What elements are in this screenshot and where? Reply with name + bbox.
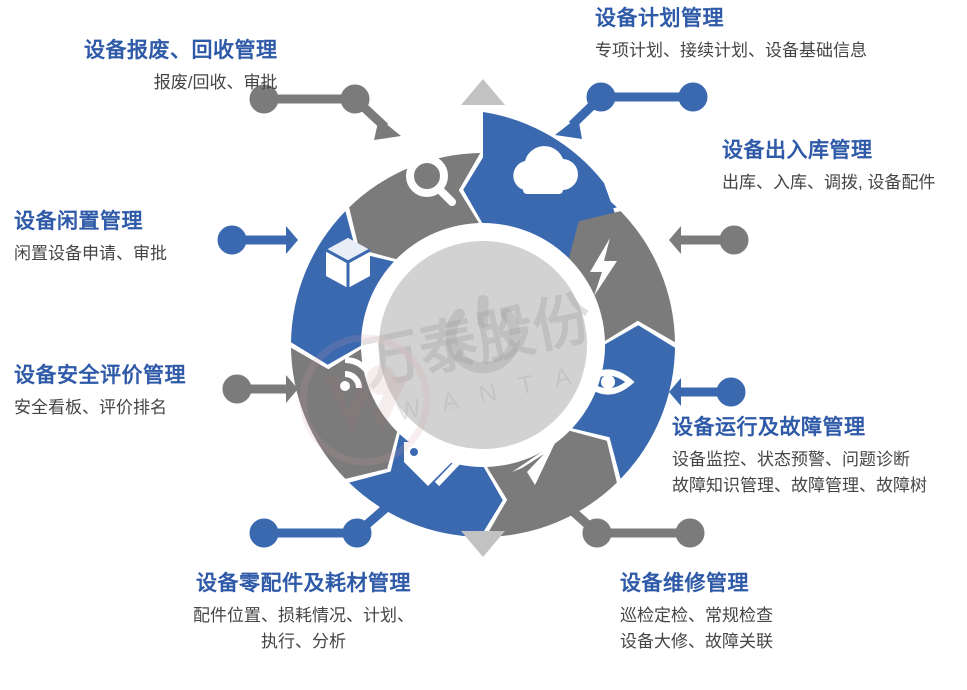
label-repair-sub-2: 设备大修、故障关联 (620, 629, 773, 655)
infographic-diagram: 万泰股份 W A N T A ® 设备报废、回收管理 报废/回收、审批 设备计划… (0, 0, 967, 690)
label-scrap-title: 设备报废、回收管理 (84, 40, 278, 61)
label-run[interactable]: 设备运行及故障管理 设备监控、状态预警、问题诊断 故障知识管理、故障管理、故障树 (672, 417, 927, 500)
segmented-wheel: 万泰股份 W A N T A ® (0, 0, 967, 690)
label-idle[interactable]: 设备闲置管理 闲置设备申请、审批 (14, 211, 167, 267)
label-plan[interactable]: 设备计划管理 专项计划、接续计划、设备基础信息 (595, 8, 867, 64)
label-parts-sub-1: 配件位置、损耗情况、计划、 (193, 603, 414, 629)
label-repair[interactable]: 设备维修管理 巡检定检、常规检查 设备大修、故障关联 (620, 573, 773, 656)
connector-plan (555, 83, 707, 139)
hub-circle (379, 241, 587, 449)
label-run-title: 设备运行及故障管理 (672, 417, 927, 438)
label-run-sub-2: 故障知识管理、故障管理、故障树 (672, 473, 927, 499)
connector-run (669, 378, 745, 406)
label-scrap[interactable]: 设备报废、回收管理 报废/回收、审批 (84, 40, 278, 96)
label-parts-title: 设备零配件及耗材管理 (193, 573, 414, 594)
triangle-down-icon (461, 531, 505, 557)
connector-parts (250, 494, 404, 547)
connector-idle (218, 226, 298, 254)
label-repair-title: 设备维修管理 (620, 573, 773, 594)
label-inout-title: 设备出入库管理 (722, 140, 935, 161)
label-parts[interactable]: 设备零配件及耗材管理 配件位置、损耗情况、计划、 执行、分析 (193, 573, 414, 656)
label-inout-sub-1: 出库、入库、调拨, 设备配件 (722, 170, 935, 196)
connector-safety (223, 375, 298, 403)
connector-inout (669, 226, 748, 254)
triangle-up-icon (461, 79, 505, 105)
label-idle-title: 设备闲置管理 (14, 211, 167, 232)
label-safety[interactable]: 设备安全评价管理 安全看板、评价排名 (14, 365, 186, 421)
label-plan-title: 设备计划管理 (595, 8, 867, 29)
label-parts-sub-2: 执行、分析 (193, 629, 414, 655)
label-safety-sub-1: 安全看板、评价排名 (14, 395, 186, 421)
label-plan-sub-1: 专项计划、接续计划、设备基础信息 (595, 38, 867, 64)
connector-repair (551, 494, 704, 547)
label-safety-title: 设备安全评价管理 (14, 365, 186, 386)
label-scrap-sub-1: 报废/回收、审批 (84, 70, 278, 96)
label-inout[interactable]: 设备出入库管理 出库、入库、调拨, 设备配件 (722, 140, 935, 196)
label-idle-sub-1: 闲置设备申请、审批 (14, 241, 167, 267)
label-run-sub-1: 设备监控、状态预警、问题诊断 (672, 447, 927, 473)
label-repair-sub-1: 巡检定检、常规检查 (620, 603, 773, 629)
